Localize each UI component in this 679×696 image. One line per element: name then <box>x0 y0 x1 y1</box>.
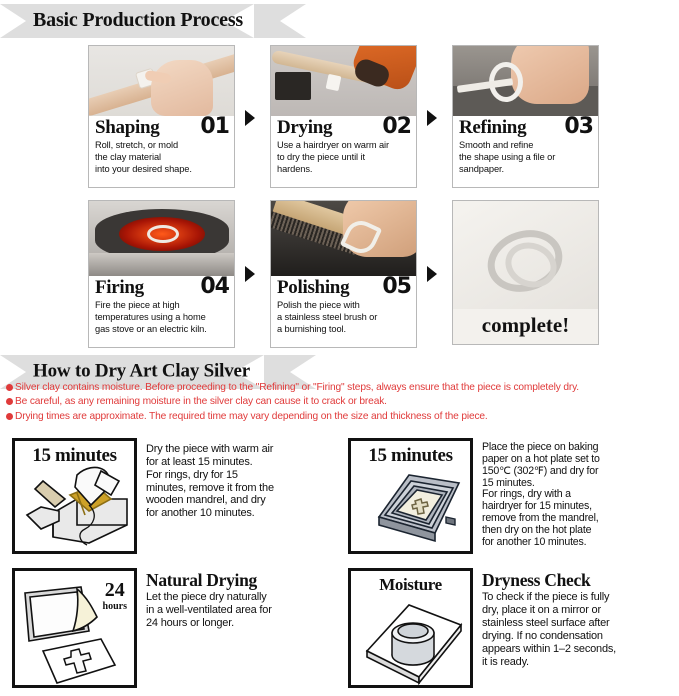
polishing-photo-art <box>271 201 416 276</box>
hairdryer-drying-illustration <box>15 441 137 554</box>
step-caption: Firing 04 Fire the piece at high tempera… <box>89 276 234 340</box>
step-number: 01 <box>200 117 229 138</box>
firing-photo-art <box>89 201 234 276</box>
method-body: Dry the piece with warm air for at least… <box>146 443 274 520</box>
process-complete-card[interactable]: complete! <box>452 200 599 345</box>
natural-drying-icon: 24 hours <box>12 568 137 688</box>
note-text: Be careful, as any remaining moisture in… <box>15 395 387 409</box>
method-body: Place the piece on baking paper on a hot… <box>482 442 600 549</box>
step-description: Smooth and refine the shape using a file… <box>459 140 593 176</box>
process-arrow-icon <box>427 110 437 126</box>
process-step-card[interactable]: Firing 04 Fire the piece at high tempera… <box>88 200 235 348</box>
step-photo <box>271 46 416 116</box>
step-photo <box>271 201 416 276</box>
step-number: 04 <box>200 277 229 298</box>
step-number: 02 <box>382 117 411 138</box>
hot-plate-illustration <box>351 441 473 554</box>
shaping-photo-art <box>89 46 234 116</box>
step-description: Fire the piece at high temperatures usin… <box>95 300 229 336</box>
step-name: Shaping <box>95 118 159 137</box>
complete-label: complete! <box>453 309 598 344</box>
step-number: 03 <box>564 117 593 138</box>
method-text: Place the piece on baking paper on a hot… <box>473 438 600 549</box>
step-photo <box>89 201 234 276</box>
method-body: To check if the piece is fully dry, plac… <box>482 591 616 668</box>
drying-method-panel[interactable]: 24 hours Natural Drying Let the piece dr… <box>12 568 342 688</box>
drying-method-panel[interactable]: Moisture Dryness Check To check if the p… <box>348 568 678 688</box>
step-photo <box>89 46 234 116</box>
step-heading: Drying 02 <box>277 117 411 138</box>
complete-photo <box>453 201 598 309</box>
step-number: 05 <box>382 277 411 298</box>
process-arrow-icon <box>427 266 437 282</box>
step-heading: Refining 03 <box>459 117 593 138</box>
banner-tail-icon <box>280 4 306 38</box>
drying-method-panel[interactable]: 15 minutes Place the piece on baking pap… <box>348 438 678 554</box>
step-description: Polish the piece with a stainless steel … <box>277 300 411 336</box>
process-step-card[interactable]: Drying 02 Use a hairdryer on warm air to… <box>270 45 417 188</box>
hot-plate-icon: 15 minutes <box>348 438 473 554</box>
step-name: Refining <box>459 118 526 137</box>
step-heading: Shaping 01 <box>95 117 229 138</box>
note-text: Silver clay contains moisture. Before pr… <box>15 381 579 395</box>
process-arrow-icon <box>245 110 255 126</box>
drying-photo-art <box>271 46 416 116</box>
step-heading: Firing 04 <box>95 277 229 298</box>
process-step-card[interactable]: Polishing 05 Polish the piece with a sta… <box>270 200 417 348</box>
process-step-card[interactable]: Refining 03 Smooth and refine the shape … <box>452 45 599 188</box>
step-caption: Polishing 05 Polish the piece with a sta… <box>271 276 416 340</box>
method-text: Dry the piece with warm air for at least… <box>137 438 274 520</box>
note-item: Silver clay contains moisture. Before pr… <box>6 381 674 395</box>
process-banner: Basic Production Process <box>0 4 280 38</box>
method-text: Natural Drying Let the piece dry natural… <box>137 568 272 630</box>
step-description: Use a hairdryer on warm air to dry the p… <box>277 140 411 176</box>
process-banner-title: Basic Production Process <box>33 9 243 32</box>
note-text: Drying times are approximate. The requir… <box>15 410 488 424</box>
bullet-dot-icon <box>6 413 13 420</box>
step-description: Roll, stretch, or mold the clay material… <box>95 140 229 176</box>
method-title: Natural Drying <box>146 571 272 590</box>
method-text: Dryness Check To check if the piece is f… <box>473 568 616 668</box>
step-caption: Shaping 01 Roll, stretch, or mold the cl… <box>89 116 234 180</box>
method-title: Dryness Check <box>482 571 616 590</box>
note-item: Drying times are approximate. The requir… <box>6 410 674 424</box>
note-item: Be careful, as any remaining moisture in… <box>6 395 674 409</box>
drying-method-panel[interactable]: 15 minutes Dry the piece with warm air f… <box>12 438 342 554</box>
bullet-dot-icon <box>6 384 13 391</box>
process-step-card[interactable]: Shaping 01 Roll, stretch, or mold the cl… <box>88 45 235 188</box>
hairdryer-icon: 15 minutes <box>12 438 137 554</box>
step-photo <box>453 46 598 116</box>
step-name: Polishing <box>277 278 349 297</box>
step-caption: Drying 02 Use a hairdryer on warm air to… <box>271 116 416 180</box>
drying-notes-list: Silver clay contains moisture. Before pr… <box>6 381 674 424</box>
step-name: Drying <box>277 118 332 137</box>
process-arrow-icon <box>245 266 255 282</box>
banner-left-notch-icon <box>0 4 26 38</box>
drying-banner-title: How to Dry Art Clay Silver <box>33 361 250 383</box>
method-body: Let the piece dry naturally in a well-ve… <box>146 591 272 630</box>
bullet-dot-icon <box>6 398 13 405</box>
paper-with-piece-illustration <box>15 571 137 688</box>
step-caption: Refining 03 Smooth and refine the shape … <box>453 116 598 180</box>
moisture-check-icon: Moisture <box>348 568 473 688</box>
finished-ring-art <box>453 201 598 309</box>
step-name: Firing <box>95 278 144 297</box>
refining-photo-art <box>453 46 598 116</box>
step-heading: Polishing 05 <box>277 277 411 298</box>
condensation-on-mirror-illustration <box>351 571 473 688</box>
